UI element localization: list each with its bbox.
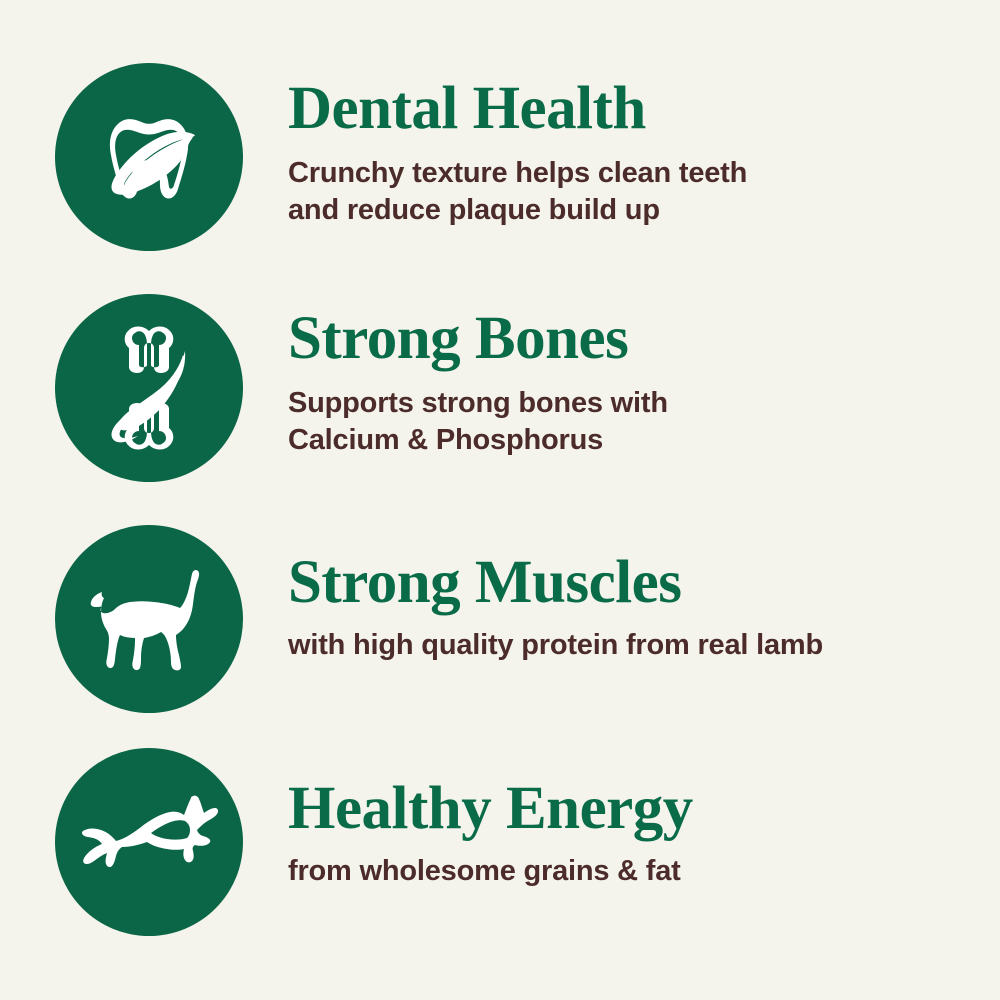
benefit-description-line: with high quality protein from real lamb: [288, 629, 823, 661]
benefit-description-line: from wholesome grains & fat: [288, 855, 681, 887]
benefit-icon-badge: [55, 294, 243, 482]
bone-shine-icon: [89, 323, 209, 453]
benefit-icon-badge: [55, 748, 243, 936]
tooth-shine-icon: [89, 97, 209, 217]
benefit-icon-badge: [55, 525, 243, 713]
benefit-description: from wholesome grains & fat: [288, 853, 948, 890]
benefit-description-line: and reduce plaque build up: [288, 194, 660, 226]
benefit-text-block: Dental Health Crunchy texture helps clea…: [288, 78, 948, 229]
benefit-icon-badge: [55, 63, 243, 251]
benefit-title: Strong Bones: [288, 308, 948, 369]
benefits-panel: Dental Health Crunchy texture helps clea…: [0, 0, 1000, 1000]
benefit-text-block: Strong Bones Supports strong bones with …: [288, 308, 948, 459]
benefit-description: Crunchy texture helps clean teeth and re…: [288, 155, 948, 229]
benefit-description-line: Supports strong bones with: [288, 387, 668, 419]
benefit-description-line: Calcium & Phosphorus: [288, 424, 603, 456]
benefit-title: Healthy Energy: [288, 778, 948, 839]
benefit-description: with high quality protein from real lamb: [288, 627, 948, 664]
benefit-title: Strong Muscles: [288, 552, 948, 613]
benefit-text-block: Healthy Energy from wholesome grains & f…: [288, 778, 948, 890]
benefit-description-line: Crunchy texture helps clean teeth: [288, 157, 747, 189]
benefit-text-block: Strong Muscles with high quality protein…: [288, 552, 948, 664]
leaping-dog-icon: [75, 794, 223, 890]
benefit-title: Dental Health: [288, 78, 948, 139]
benefit-description: Supports strong bones with Calcium & Pho…: [288, 385, 948, 459]
standing-dog-icon: [84, 565, 214, 673]
